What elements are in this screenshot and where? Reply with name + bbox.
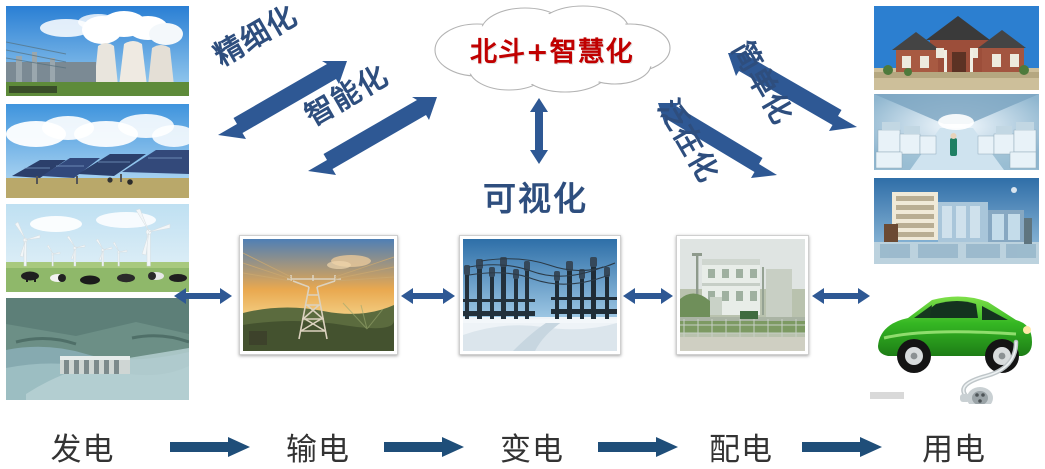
flow-label-consumption: 用电 (922, 424, 986, 469)
residential-house-photo (874, 6, 1039, 90)
flow-label-distribution: 配电 (709, 424, 773, 469)
flow-arrow-3 (593, 436, 685, 458)
flow-step-substation: 变电 (471, 424, 593, 469)
double-arrow-left-to-transmission (172, 285, 234, 307)
diagram-canvas: 北斗+智慧化 精细化 智能化 简单化 泛在化 可视化 发电 (0, 0, 1045, 468)
solar-farm-photo (6, 104, 189, 198)
hydro-dam-photo (6, 298, 189, 400)
factory-interior-photo (874, 94, 1039, 170)
flow-label-transmission: 输电 (286, 424, 350, 469)
cloud-title-text: 北斗+智慧化 (470, 30, 634, 69)
flow-step-transmission: 输电 (257, 424, 379, 469)
double-arrow-substation-to-distribution (621, 285, 675, 307)
flow-arrow-1 (165, 436, 257, 458)
transmission-tower-photo (239, 235, 398, 355)
flow-arrow-2 (379, 436, 471, 458)
power-flow-strip: 发电 输电 变电 配电 (0, 425, 1045, 468)
flow-label-substation: 变电 (500, 424, 564, 469)
wind-farm-photo (6, 204, 189, 292)
flow-label-generation: 发电 (51, 424, 115, 469)
center-label-visualization: 可视化 (483, 172, 588, 220)
commercial-building-photo (874, 178, 1039, 264)
flow-step-consumption: 用电 (889, 424, 1019, 469)
double-arrow-transmission-to-substation (399, 285, 457, 307)
thermal-power-plant-photo (6, 6, 189, 96)
flow-step-generation: 发电 (0, 424, 165, 469)
flow-step-distribution: 配电 (685, 424, 797, 469)
substation-snow-photo (459, 235, 621, 355)
flow-arrow-4 (797, 436, 889, 458)
distribution-station-photo (676, 235, 809, 355)
vertical-double-arrow-visualization (527, 96, 551, 166)
double-arrow-distribution-to-load (810, 285, 872, 307)
electric-vehicle-photo (866, 272, 1041, 404)
